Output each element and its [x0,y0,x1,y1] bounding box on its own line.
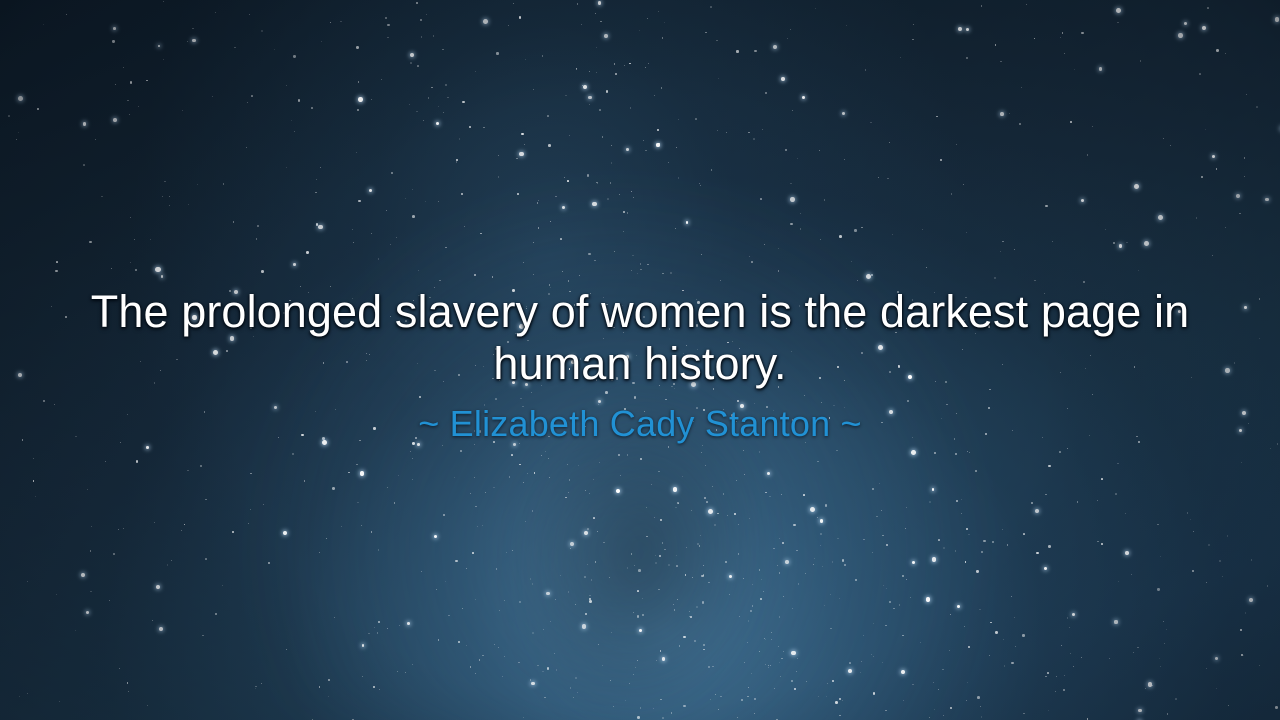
quote-slide: The prolonged slavery of women is the da… [0,0,1280,720]
quote-block: The prolonged slavery of women is the da… [0,286,1280,446]
quote-text: The prolonged slavery of women is the da… [78,286,1202,390]
quote-attribution: ~ Elizabeth Cady Stanton ~ [78,402,1202,446]
